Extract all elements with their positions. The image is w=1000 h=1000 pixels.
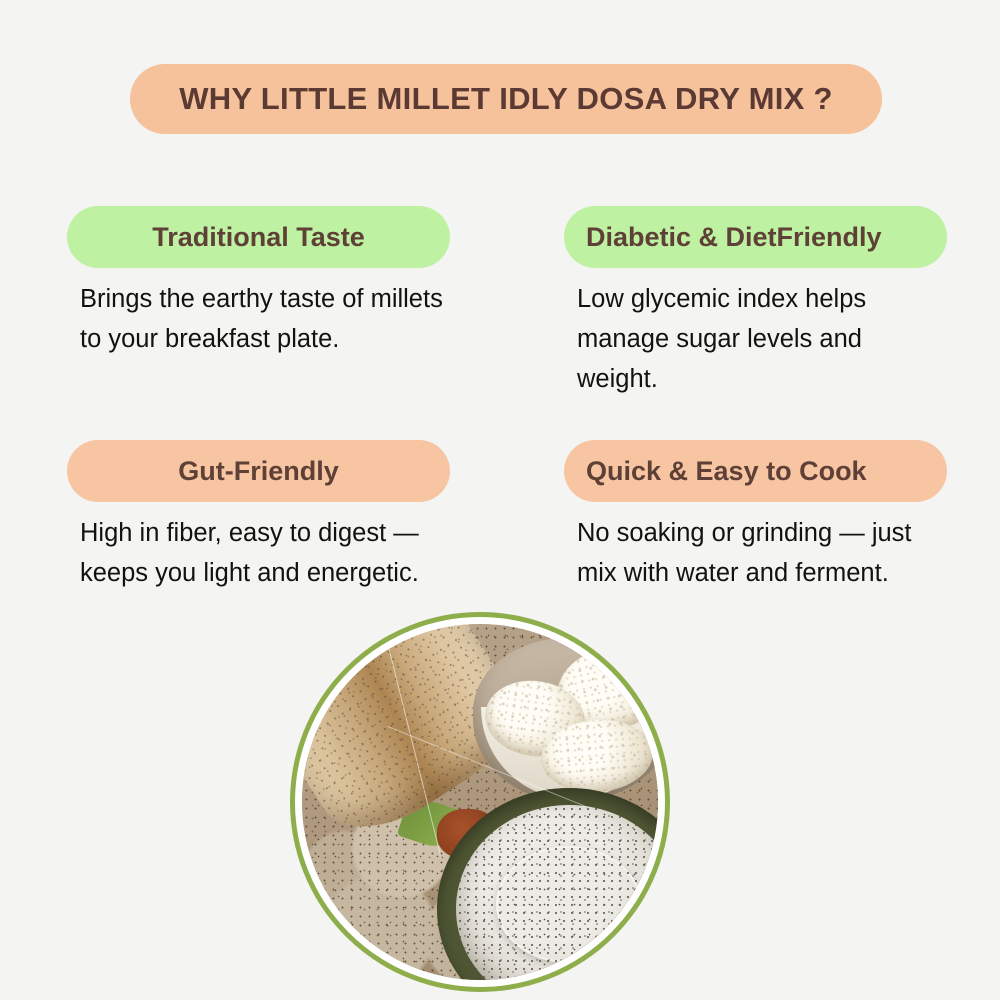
batter-swirl bbox=[496, 846, 640, 962]
feature-label: Gut-Friendly bbox=[178, 456, 339, 487]
feature-description: Low glycemic index helps manage sugar le… bbox=[564, 279, 947, 399]
infographic-root: WHY LITTLE MILLET IDLY DOSA DRY MIX ? Tr… bbox=[0, 0, 1000, 1000]
feature-card-quick-easy-to-cook: Quick & Easy to Cook No soaking or grind… bbox=[564, 440, 947, 593]
feature-label: Traditional Taste bbox=[152, 222, 365, 253]
feature-pill-quick-easy-to-cook: Quick & Easy to Cook bbox=[564, 440, 947, 502]
feature-pill-diabetic-diet-friendly: Diabetic & DietFriendly bbox=[564, 206, 947, 268]
feature-description: Brings the earthy taste of millets to yo… bbox=[67, 279, 450, 359]
feature-card-traditional-taste: Traditional Taste Brings the earthy tast… bbox=[67, 206, 450, 359]
batter-surface bbox=[456, 805, 658, 980]
feature-card-diabetic-diet-friendly: Diabetic & DietFriendly Low glycemic ind… bbox=[564, 206, 947, 399]
product-photo-collage bbox=[302, 624, 658, 980]
feature-description: High in fiber, easy to digest — keeps yo… bbox=[67, 513, 450, 593]
page-title: WHY LITTLE MILLET IDLY DOSA DRY MIX ? bbox=[179, 81, 833, 117]
feature-description: No soaking or grinding — just mix with w… bbox=[564, 513, 947, 593]
feature-card-gut-friendly: Gut-Friendly High in fiber, easy to dige… bbox=[67, 440, 450, 593]
feature-label: Quick & Easy to Cook bbox=[586, 456, 867, 487]
product-photo-circle bbox=[290, 612, 670, 992]
header-banner: WHY LITTLE MILLET IDLY DOSA DRY MIX ? bbox=[130, 64, 882, 134]
feature-pill-traditional-taste: Traditional Taste bbox=[67, 206, 450, 268]
feature-label: Diabetic & DietFriendly bbox=[586, 222, 882, 253]
idli-bowl-photo bbox=[473, 638, 658, 802]
feature-pill-gut-friendly: Gut-Friendly bbox=[67, 440, 450, 502]
